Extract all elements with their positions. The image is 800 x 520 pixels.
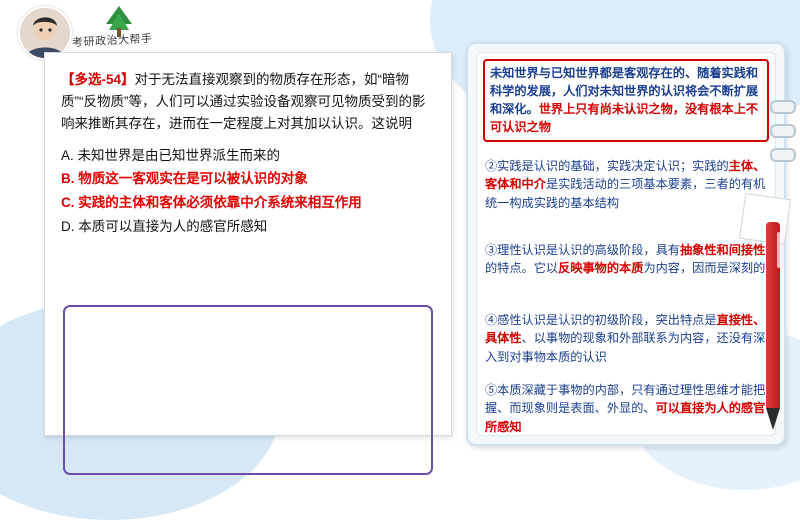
note-4-part-1: ④感性认识是认识的初级阶段，突出特点是	[485, 313, 717, 327]
option-d-text: 本质可以直接为人的感官所感知	[78, 219, 267, 234]
option-d[interactable]: D. 本质可以直接为人的感官所感知	[61, 216, 437, 238]
question-text: 【多选-54】对于无法直接观察到的物质存在形态，如“暗物质”“反物质”等，人们可…	[61, 69, 437, 135]
note-4-part-3: 、以事物的现象和外部联系为内容，还没有深入到对事物本质的认识	[485, 331, 765, 363]
question-block: 【多选-54】对于无法直接观察到的物质存在形态，如“暗物质”“反物质”等，人们可…	[61, 69, 437, 238]
avatar-person-icon	[20, 8, 70, 58]
option-c-text: 实践的主体和客体必须依靠中介系统来相互作用	[78, 195, 362, 210]
option-c-key: C.	[61, 195, 75, 210]
brand-name: 考研政治大帮手	[72, 30, 153, 50]
notes-page: 未知世界与已知世界都是客观存在的、随着实践和科学的发展，人们对未知世界的认识将会…	[466, 42, 786, 446]
option-a-key: A.	[61, 148, 74, 163]
note-4: ④感性认识是认识的初级阶段，突出特点是直接性、具体性、以事物的现象和外部联系为内…	[485, 311, 767, 366]
note-3-part-1: ③理性认识是认识的高级阶段，具有	[485, 243, 680, 257]
spiral-ring-icon-1	[770, 100, 796, 114]
option-b-text: 物质这一客观实在是可以被认识的对象	[78, 171, 308, 186]
note-3-part-5: 为内容，因而是深刻的	[643, 261, 765, 275]
red-pen-icon	[766, 222, 780, 436]
note-2: ②实践是认识的基础，实践决定认识；实践的主体、客体和中介是实践活动的三项基本要素…	[485, 157, 767, 212]
note-1: 未知世界与已知世界都是客观存在的、随着实践和科学的发展，人们对未知世界的认识将会…	[483, 59, 769, 142]
option-a[interactable]: A. 未知世界是由已知世界派生而来的	[61, 145, 437, 167]
question-page: 【多选-54】对于无法直接观察到的物质存在形态，如“暗物质”“反物质”等，人们可…	[44, 52, 452, 436]
spiral-ring-icon-3	[770, 148, 796, 162]
option-d-key: D.	[61, 219, 75, 234]
option-a-text: 未知世界是由已知世界派生而来的	[78, 148, 281, 163]
note-2-part-1: ②实践是认识的基础，实践决定认识；实践的	[485, 159, 729, 173]
note-3: ③理性认识是认识的高级阶段，具有抽象性和间接性的特点。它以反映事物的本质为内容，…	[485, 241, 767, 278]
option-b[interactable]: B. 物质这一客观实在是可以被认识的对象	[61, 168, 437, 190]
notes-inner: 未知世界与已知世界都是客观存在的、随着实践和科学的发展，人们对未知世界的认识将会…	[476, 52, 776, 436]
spiral-ring-icon-2	[770, 124, 796, 138]
paper-sheet-icon	[739, 193, 791, 245]
note-3-part-2: 抽象性和间接性	[680, 243, 765, 257]
note-3-part-3: 的特点。它以	[485, 261, 558, 275]
option-b-key: B.	[61, 171, 75, 186]
note-3-part-4: 反映事物的本质	[558, 261, 643, 275]
note-5: ⑤本质深藏于事物的内部，只有通过理性思维才能把握、而现象则是表面、外显的、可以直…	[485, 381, 767, 436]
question-label: 【多选-54】	[61, 72, 135, 87]
option-c[interactable]: C. 实践的主体和客体必须依靠中介系统来相互作用	[61, 192, 437, 214]
